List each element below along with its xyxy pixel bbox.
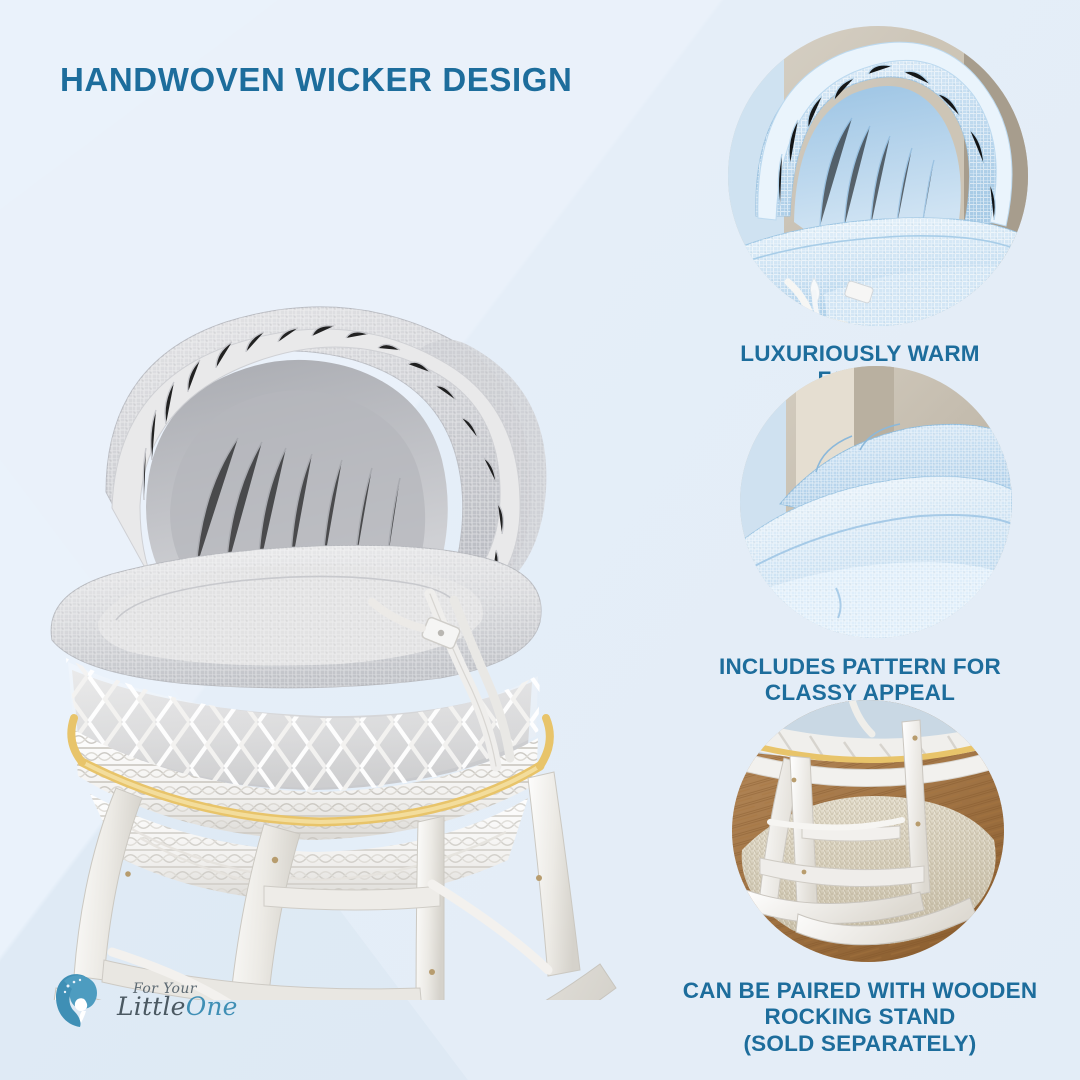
feature-pattern: INCLUDES PATTERN FOR CLASSY APPEAL xyxy=(640,366,1080,707)
waffle-texture-illustration xyxy=(740,366,1012,638)
hero-product-image xyxy=(20,170,660,1000)
feature-stand-caption: CAN BE PAIRED WITH WOODEN ROCKING STAND … xyxy=(640,978,1080,1057)
feature-pattern-caption: INCLUDES PATTERN FOR CLASSY APPEAL xyxy=(640,654,1080,707)
infographic-canvas: HANDWOVEN WICKER DESIGN xyxy=(0,0,1080,1080)
rocking-stand-illustration xyxy=(732,700,1004,962)
brand-logo[interactable]: For Your LittleOne xyxy=(52,963,242,1037)
hero-illustration xyxy=(20,170,660,1000)
logo-wordmark: For Your LittleOne xyxy=(117,982,238,1019)
feature-column: LUXURIOUSLY WARM FABRIC xyxy=(640,0,1080,1080)
feature-stand-image xyxy=(732,700,1004,962)
blue-hood-illustration xyxy=(728,26,1028,326)
caption-line: ROCKING STAND xyxy=(640,1004,1080,1030)
caption-line: CAN BE PAIRED WITH WOODEN xyxy=(640,978,1080,1004)
feature-pattern-image xyxy=(740,366,1012,638)
logo-one: One xyxy=(186,992,238,1021)
caption-line: LUXURIOUSLY WARM xyxy=(640,341,1080,367)
mother-and-baby-icon xyxy=(52,969,110,1031)
feature-stand: CAN BE PAIRED WITH WOODEN ROCKING STAND … xyxy=(640,700,1080,1057)
caption-line: (SOLD SEPARATELY) xyxy=(640,1031,1080,1057)
page-title: HANDWOVEN WICKER DESIGN xyxy=(60,62,572,98)
feature-fabric: LUXURIOUSLY WARM FABRIC xyxy=(640,26,1080,394)
logo-line-2: LittleOne xyxy=(117,994,238,1019)
feature-fabric-image xyxy=(728,26,1028,326)
logo-little: Little xyxy=(117,992,186,1021)
caption-line: INCLUDES PATTERN FOR xyxy=(640,654,1080,680)
